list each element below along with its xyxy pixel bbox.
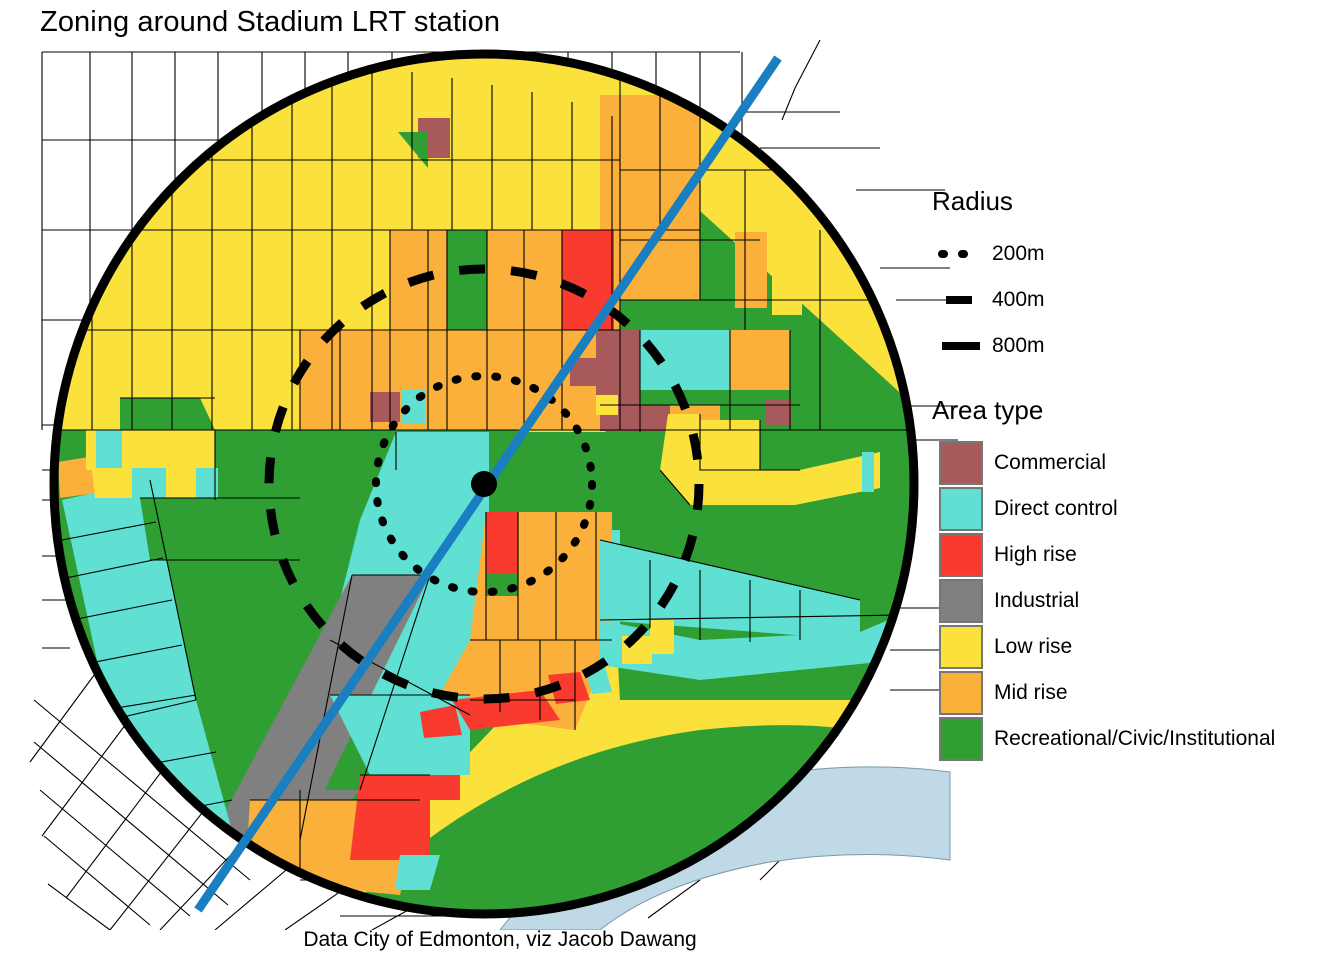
legend-item-low-rise[interactable]: Low rise xyxy=(930,624,1340,670)
swatch-industrial xyxy=(939,579,983,623)
legend-item-radius-200m[interactable]: 200m xyxy=(930,231,1340,277)
station-dot[interactable] xyxy=(471,471,497,497)
legend-item-direct-control[interactable]: Direct control xyxy=(930,486,1340,532)
map-figure: Zoning around Stadium LRT station xyxy=(0,0,1344,960)
color-swatch-recreational xyxy=(930,717,992,761)
swatch-high-rise xyxy=(939,533,983,577)
legend-item-mid-rise[interactable]: Mid rise xyxy=(930,670,1340,716)
color-swatch-commercial xyxy=(930,441,992,485)
legend-label-high-rise: High rise xyxy=(994,543,1077,567)
dotted-line-icon xyxy=(930,247,992,261)
radius-legend: Radius 200m 400m xyxy=(930,186,1340,369)
dashed-line-icon xyxy=(930,293,992,307)
color-swatch-industrial xyxy=(930,579,992,623)
swatch-low-rise xyxy=(939,625,983,669)
solid-line-icon xyxy=(930,339,992,353)
legend-item-high-rise[interactable]: High rise xyxy=(930,532,1340,578)
swatch-commercial xyxy=(939,441,983,485)
color-swatch-mid-rise xyxy=(930,671,992,715)
swatch-direct-control xyxy=(939,487,983,531)
legend-label-commercial: Commercial xyxy=(994,451,1106,475)
legend-item-commercial[interactable]: Commercial xyxy=(930,440,1340,486)
legend-label-mid-rise: Mid rise xyxy=(994,681,1068,705)
legend: Radius 200m 400m xyxy=(930,186,1340,772)
legend-label-low-rise: Low rise xyxy=(994,635,1072,659)
area-legend-title: Area type xyxy=(932,395,1340,426)
color-swatch-direct-control xyxy=(930,487,992,531)
source-caption: Data City of Edmonton, viz Jacob Dawang xyxy=(0,928,1000,952)
swatch-recreational xyxy=(939,717,983,761)
legend-label-industrial: Industrial xyxy=(994,589,1079,613)
legend-item-recreational[interactable]: Recreational/Civic/Institutional xyxy=(930,716,1340,762)
color-swatch-low-rise xyxy=(930,625,992,669)
area-type-legend: Area type Commercial Direct control High… xyxy=(930,395,1340,762)
legend-label-direct-control: Direct control xyxy=(994,497,1118,521)
legend-item-industrial[interactable]: Industrial xyxy=(930,578,1340,624)
map-canvas[interactable] xyxy=(0,0,960,930)
legend-item-radius-400m[interactable]: 400m xyxy=(930,277,1340,323)
legend-label-radius-200m: 200m xyxy=(992,242,1045,266)
zoning-map[interactable] xyxy=(0,0,960,930)
radius-legend-title: Radius xyxy=(932,186,1340,217)
legend-label-radius-800m: 800m xyxy=(992,334,1045,358)
color-swatch-high-rise xyxy=(930,533,992,577)
swatch-mid-rise xyxy=(939,671,983,715)
legend-label-recreational: Recreational/Civic/Institutional xyxy=(994,727,1275,751)
legend-label-radius-400m: 400m xyxy=(992,288,1045,312)
legend-item-radius-800m[interactable]: 800m xyxy=(930,323,1340,369)
